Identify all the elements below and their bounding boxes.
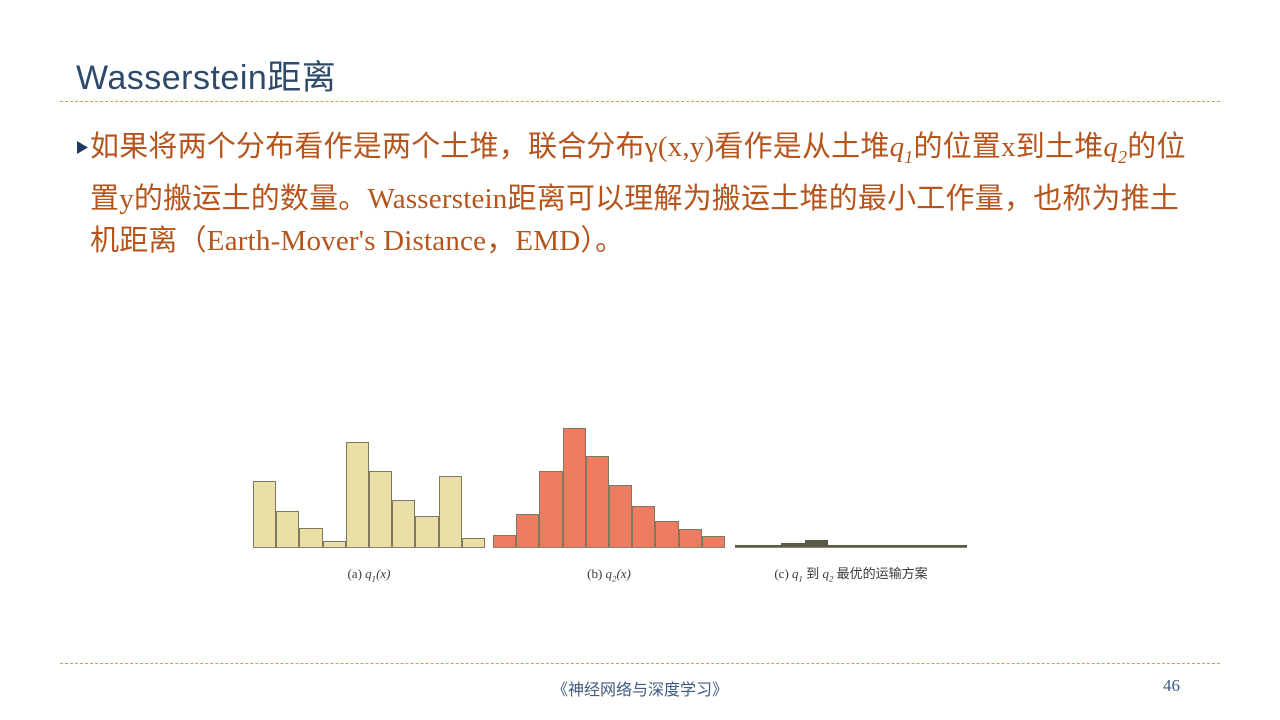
chart-b-bars: [493, 421, 725, 547]
chart-c-caption-prefix: (c): [774, 566, 788, 581]
chart-b-caption-suffix: (x): [616, 566, 630, 581]
bar: [493, 535, 516, 546]
chart-panel-c: (c) q1 到 q2 最优的运输方案: [735, 420, 967, 590]
body-content: 如果将两个分布看作是两个土堆，联合分布γ(x,y)看作是从土堆q1的位置x到土堆…: [76, 126, 1206, 262]
chart-c-caption-suffix: 最优的运输方案: [837, 566, 928, 581]
chart-c-caption-mid: 到: [806, 566, 819, 581]
chart-a-caption: (a) q1(x): [253, 566, 485, 584]
bar: [462, 538, 485, 547]
bar: [276, 511, 299, 546]
bar: [632, 506, 655, 546]
bar: [392, 500, 415, 547]
bar: [415, 516, 438, 546]
bar: [516, 514, 539, 547]
figure-wasserstein-illustration: (a) q1(x) (b) q2(x) (c) q1 到 q2 最优的运输方案: [245, 420, 985, 590]
chart-c-caption: (c) q1 到 q2 最优的运输方案: [735, 563, 967, 584]
stacked-bar-column: [805, 540, 828, 547]
title-divider: [60, 101, 1220, 102]
bar: [586, 456, 609, 547]
bar: [679, 529, 702, 547]
chart-c-stacked-bars: [735, 421, 967, 547]
chart-a-bars: [253, 421, 485, 547]
bar: [655, 521, 678, 546]
body-symbol-q2: q: [1103, 131, 1118, 163]
chart-a-axis: [253, 547, 485, 549]
body-symbol-q2-sub: 2: [1118, 147, 1127, 167]
bar: [253, 481, 276, 547]
chart-c-caption-sub-1: 1: [799, 574, 803, 584]
bar: [609, 485, 632, 547]
footer-book-title: 《神经网络与深度学习》: [0, 676, 1280, 700]
footer-divider: [60, 663, 1220, 664]
bar: [539, 471, 562, 547]
chart-b-plot: [493, 420, 725, 548]
chart-panel-a: (a) q1(x): [253, 420, 485, 590]
body-symbol-q1: q: [890, 131, 905, 163]
chart-c-axis: [735, 547, 967, 549]
bullet-paragraph: 如果将两个分布看作是两个土堆，联合分布γ(x,y)看作是从土堆q1的位置x到土堆…: [76, 126, 1206, 262]
chart-b-axis: [493, 547, 725, 549]
chart-b-caption: (b) q2(x): [493, 566, 725, 584]
chart-b-caption-prefix: (b): [587, 566, 602, 581]
chart-panel-b: (b) q2(x): [493, 420, 725, 590]
chart-a-caption-prefix: (a): [347, 566, 361, 581]
body-text-seg-1: 如果将两个分布看作是两个土堆，联合分布γ(x,y)看作是从土堆: [90, 131, 890, 163]
bar: [346, 442, 369, 547]
chart-c-plot: [735, 420, 967, 548]
bar: [369, 471, 392, 547]
footer-page-number: 46: [1163, 676, 1180, 696]
bar: [563, 428, 586, 546]
body-text-seg-1-end: 的: [913, 131, 942, 163]
chart-c-caption-sub-2: 2: [829, 574, 833, 584]
chart-a-caption-suffix: (x): [376, 566, 390, 581]
bar: [702, 536, 725, 546]
page-title: Wasserstein距离: [76, 50, 336, 99]
body-text-seg-2a: 位置x到土堆: [943, 131, 1104, 163]
bar: [299, 528, 322, 547]
body-paragraph-text: 如果将两个分布看作是两个土堆，联合分布γ(x,y)看作是从土堆q1的位置x到土堆…: [90, 126, 1206, 262]
body-text-seg-4: EMD）。: [515, 225, 624, 257]
chart-a-plot: [253, 420, 485, 548]
triangle-right-icon: [76, 140, 90, 155]
bar: [439, 476, 462, 547]
